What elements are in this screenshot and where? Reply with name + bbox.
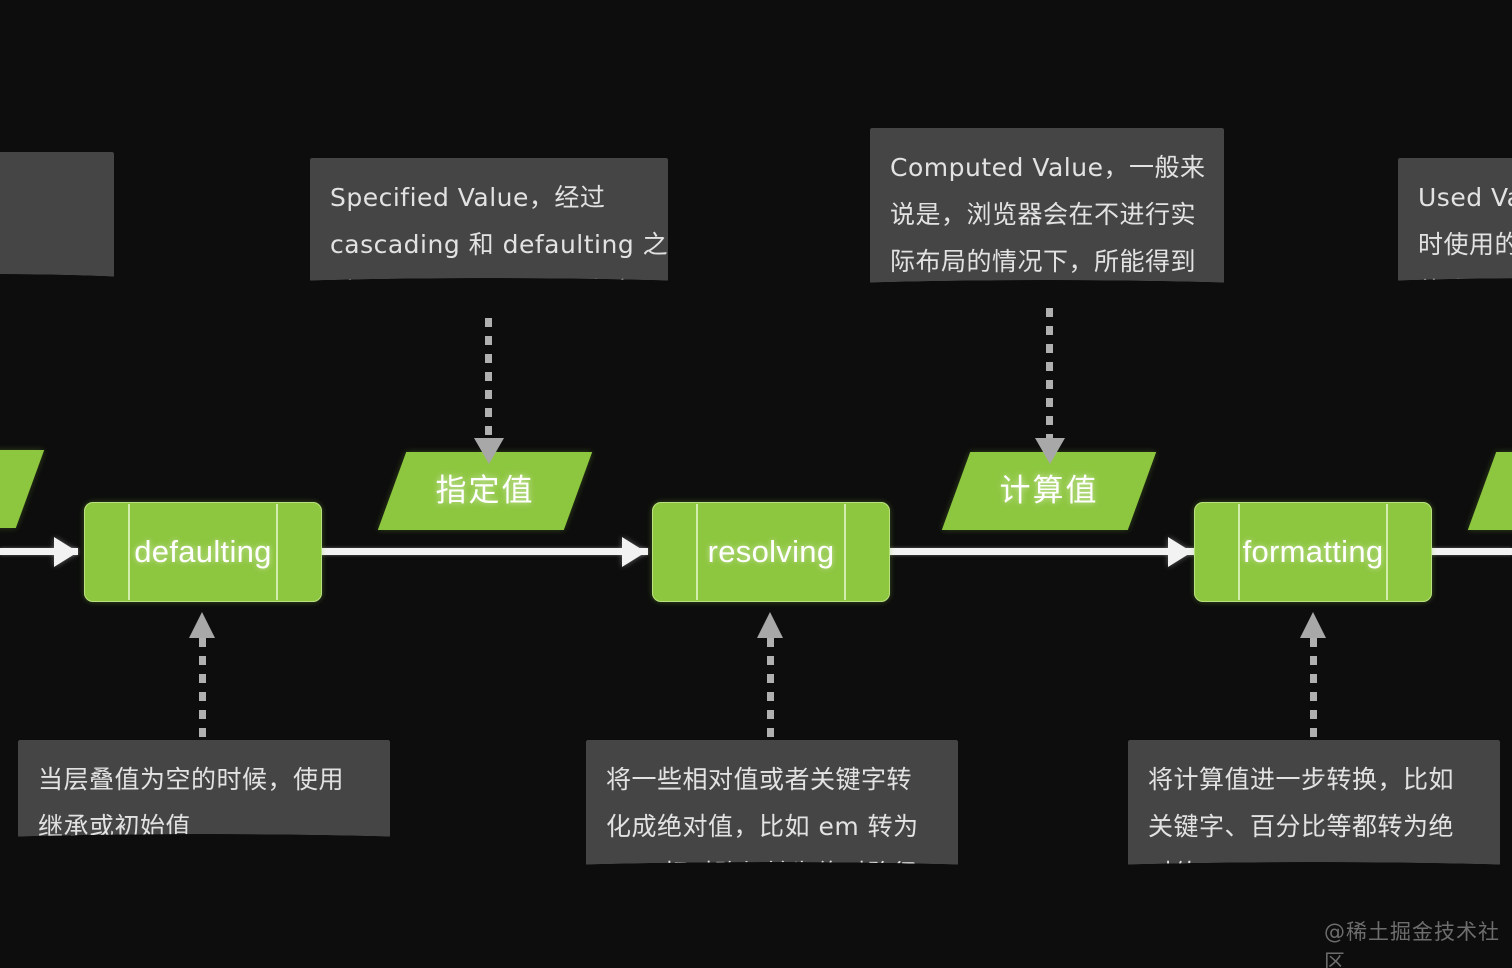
dotted-connector-computed (1046, 308, 1053, 442)
process-box-resolving[interactable]: resolving (652, 502, 890, 602)
note-defaulting: 当层叠值为空的时候，使用 继承或初始值 (18, 740, 390, 860)
note-formatting: 将计算值进一步转换，比如 关键字、百分比等都转为绝 对值 (1128, 740, 1500, 888)
diagram-canvas: 指定值 计算值 defaulting resolving formatting … (0, 0, 1512, 968)
flow-arrow-head-2 (1168, 537, 1192, 567)
note-cascaded-value: 叠过程 那个值。 (0, 152, 114, 300)
dotted-connector-defaulting (199, 638, 206, 750)
process-rail-left (696, 504, 698, 600)
flow-arrow-line-2 (864, 548, 1196, 555)
dotted-connector-specified (485, 318, 492, 442)
dotted-arrowhead-formatting (1300, 612, 1326, 638)
dotted-arrowhead-computed (1035, 438, 1065, 464)
process-box-defaulting[interactable]: defaulting (84, 502, 322, 602)
process-rail-right (844, 504, 846, 600)
value-shape-left-clipped (0, 450, 44, 528)
process-rail-right (1386, 504, 1388, 600)
dotted-arrowhead-specified (474, 438, 504, 464)
process-label-defaulting: defaulting (134, 534, 271, 570)
flow-arrow-line-3 (1430, 548, 1512, 555)
flow-arrow-head-1 (622, 537, 646, 567)
dotted-arrowhead-defaulting (189, 612, 215, 638)
dotted-connector-formatting (1310, 638, 1317, 750)
watermark: @稀土掘金技术社区 (1324, 916, 1512, 968)
process-label-resolving: resolving (708, 534, 835, 570)
value-shape-right-clipped (1468, 452, 1512, 530)
process-box-formatting[interactable]: formatting (1194, 502, 1432, 602)
process-label-formatting: formatting (1243, 534, 1384, 570)
process-rail-left (1238, 504, 1240, 600)
note-specified-value: Specified Value，经过 cascading 和 defaultin… (310, 158, 668, 304)
flow-arrow-line-1 (296, 548, 648, 555)
process-rail-left (128, 504, 130, 600)
note-resolving: 将一些相对值或者关键字转 化成绝对值，比如 em 转为 px，相对路径转为绝对路… (586, 740, 958, 888)
note-computed-value: Computed Value，一般来 说是，浏览器会在不进行实 际布局的情况下，… (870, 128, 1224, 306)
dotted-connector-resolving (767, 638, 774, 750)
flow-arrow-head-0 (54, 537, 78, 567)
dotted-arrowhead-resolving (757, 612, 783, 638)
note-used-value: Used Va 时使用的 值或关键 (1398, 158, 1512, 304)
process-rail-right (276, 504, 278, 600)
